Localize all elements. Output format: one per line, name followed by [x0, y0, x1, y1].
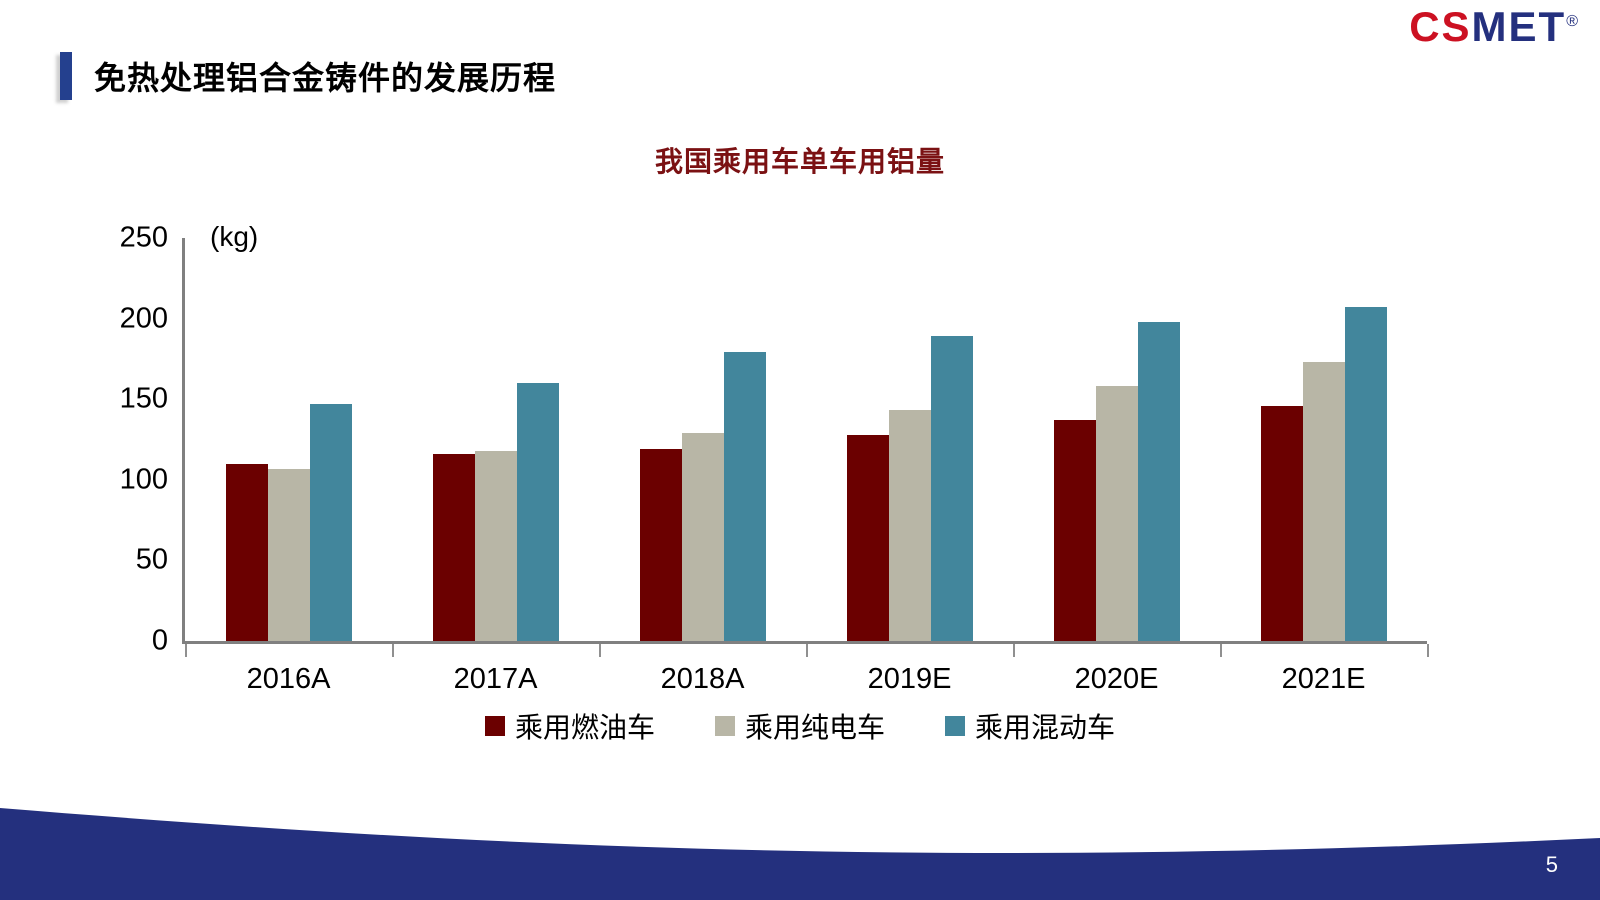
bar-group [806, 238, 1013, 641]
x-axis-tick [1220, 644, 1222, 657]
bar-2017A-0 [433, 454, 475, 641]
y-axis-tick-label: 0 [152, 625, 168, 658]
x-axis-tick [392, 644, 394, 657]
chart-title: 我国乘用车单车用铝量 [0, 140, 1600, 180]
y-axis-tick-label: 250 [120, 222, 168, 255]
x-axis-line [182, 641, 1427, 644]
x-axis-category-label: 2020E [1075, 663, 1159, 696]
logo-text-cs: CS [1409, 3, 1471, 50]
legend-item: 乘用纯电车 [715, 706, 885, 746]
bar-2016A-1 [268, 469, 310, 641]
bar-group [185, 238, 392, 641]
title-accent-bar [60, 52, 72, 100]
legend-label: 乘用燃油车 [515, 706, 655, 746]
bar-2021E-1 [1303, 362, 1345, 641]
bar-2017A-1 [475, 451, 517, 641]
bar-group [599, 238, 806, 641]
legend-item: 乘用燃油车 [485, 706, 655, 746]
bar-2020E-0 [1054, 420, 1096, 641]
bar-group [1013, 238, 1220, 641]
plot-area [185, 238, 1427, 641]
x-axis-tick [1013, 644, 1015, 657]
legend-item: 乘用混动车 [945, 706, 1115, 746]
y-axis-tick-label: 200 [120, 302, 168, 335]
y-axis-ticks: 050100150200250 [110, 215, 182, 645]
registered-trademark-icon: ® [1566, 13, 1578, 30]
bar-2018A-2 [724, 352, 766, 641]
x-axis-category-label: 2016A [247, 663, 331, 696]
x-axis-tick [599, 644, 601, 657]
y-axis-tick-label: 100 [120, 463, 168, 496]
y-axis-tick-label: 50 [136, 544, 168, 577]
bar-2020E-1 [1096, 386, 1138, 641]
legend-swatch-icon [485, 716, 505, 736]
page-number: 5 [1546, 852, 1558, 878]
bar-2021E-2 [1345, 307, 1387, 641]
bar-2019E-0 [847, 435, 889, 641]
x-axis-category-label: 2019E [868, 663, 952, 696]
bar-group [392, 238, 599, 641]
bar-2018A-0 [640, 449, 682, 641]
x-axis-category-label: 2017A [454, 663, 538, 696]
x-axis-tick [1427, 644, 1429, 657]
csmet-logo: CSMET® [1409, 6, 1578, 48]
bar-chart: (kg) 050100150200250 2016A2017A2018A2019… [110, 215, 1440, 775]
bar-2017A-2 [517, 383, 559, 641]
bar-2019E-1 [889, 410, 931, 641]
slide: CSMET® 免热处理铝合金铸件的发展历程 我国乘用车单车用铝量 (kg) 05… [0, 0, 1600, 900]
bar-group [1220, 238, 1427, 641]
bar-2016A-2 [310, 404, 352, 641]
bar-2016A-0 [226, 464, 268, 641]
bar-2018A-1 [682, 433, 724, 641]
x-axis-tick [806, 644, 808, 657]
page-title: 免热处理铝合金铸件的发展历程 [94, 53, 556, 99]
legend-swatch-icon [945, 716, 965, 736]
legend-swatch-icon [715, 716, 735, 736]
x-axis-tick [185, 644, 187, 657]
bar-2021E-0 [1261, 406, 1303, 641]
chart-legend: 乘用燃油车乘用纯电车乘用混动车 [0, 706, 1600, 746]
bar-2020E-2 [1138, 322, 1180, 641]
bar-2019E-2 [931, 336, 973, 641]
slide-title-row: 免热处理铝合金铸件的发展历程 [60, 52, 556, 100]
footer-wave-band [0, 780, 1600, 900]
legend-label: 乘用纯电车 [745, 706, 885, 746]
x-axis-category-label: 2018A [661, 663, 745, 696]
logo-text-met: MET [1472, 3, 1567, 50]
y-axis-tick-label: 150 [120, 383, 168, 416]
x-axis-category-label: 2021E [1282, 663, 1366, 696]
legend-label: 乘用混动车 [975, 706, 1115, 746]
